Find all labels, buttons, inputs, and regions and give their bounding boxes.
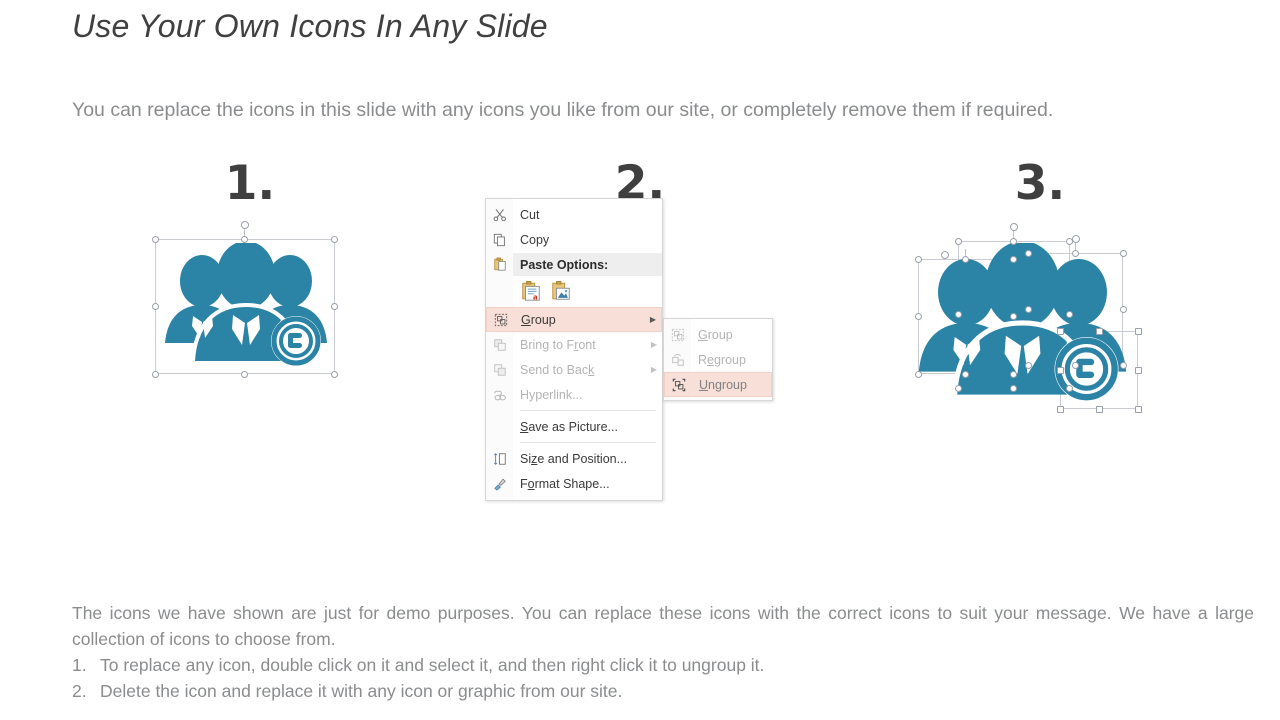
handle-left-s[interactable] [962,371,969,378]
step-2: 2. Cut [480,160,800,207]
submenu-item-group-label: Group [691,328,772,342]
group-icon [664,322,691,347]
menu-item-group-label: Group [514,313,645,327]
handle-right-w[interactable] [1025,306,1032,313]
footer-list-item-text: Delete the icon and replace it with any … [100,678,622,704]
send-to-back-icon [486,357,513,382]
menu-separator [520,442,656,443]
format-shape-icon [486,471,513,496]
handle-right-e[interactable] [1120,306,1127,313]
rotation-handle-center[interactable] [1010,223,1018,231]
submenu-item-ungroup[interactable]: Ungroup [664,372,772,397]
step-1: 1. [140,160,360,381]
handle-nw[interactable] [152,236,159,243]
context-menu[interactable]: Cut Copy [485,198,663,501]
menu-item-hyperlink-label: Hyperlink... [513,388,662,402]
handle-right-ne[interactable] [1120,250,1127,257]
handle-center-se[interactable] [1066,385,1073,392]
menu-item-save-as-picture[interactable]: Save as Picture... [486,414,662,439]
menu-item-group[interactable]: Group ▶ [486,307,662,332]
handle-badge-sw[interactable] [1057,406,1064,413]
footer-list-item: 2. Delete the icon and replace it with a… [72,678,1254,704]
rotation-handle-right[interactable] [1072,235,1080,243]
menu-item-copy[interactable]: Copy [486,227,662,252]
rotation-handle[interactable] [241,221,249,229]
ungrouped-icon-stage [900,221,1180,431]
footer-list-item-number: 1. [72,652,100,678]
copy-pages-icon [486,227,513,252]
grouped-icon-stage [140,221,360,381]
handle-badge-s[interactable] [1096,406,1103,413]
page-title: Use Your Own Icons In Any Slide [72,8,548,45]
submenu-item-regroup-label: Regroup [691,353,772,367]
group-icon [487,307,514,332]
handle-left-sw[interactable] [915,371,922,378]
submenu-item-group[interactable]: Group [664,322,772,347]
handle-right-sw[interactable] [1025,362,1032,369]
no-icon [486,414,513,439]
regroup-icon [664,347,691,372]
handle-center-e[interactable] [1066,311,1073,318]
menu-item-cut-label: Cut [513,208,662,222]
handle-center-w[interactable] [955,311,962,318]
menu-item-hyperlink[interactable]: Hyperlink... [486,382,662,407]
menu-item-send-to-back-label: Send to Back [513,363,646,377]
handle-left-w[interactable] [915,313,922,320]
chevron-right-icon: ▶ [645,315,661,324]
steps-container: 1. [0,160,1280,520]
menu-item-format-shape[interactable]: Format Shape... [486,471,662,496]
menu-item-bring-to-front[interactable]: Bring to Front ▶ [486,332,662,357]
menu-item-format-shape-label: Format Shape... [513,477,662,491]
handle-badge-w[interactable] [1057,367,1064,374]
ungroup-icon [665,372,692,397]
footer-list: 1. To replace any icon, double click on … [72,652,1254,704]
menu-item-paste-options-label: Paste Options: [513,253,662,276]
handle-e[interactable] [331,303,338,310]
handle-center-ne[interactable] [1066,238,1073,245]
handle-badge-e[interactable] [1135,367,1142,374]
handle-left-e[interactable] [1010,313,1017,320]
paste-picture-icon[interactable] [550,280,572,305]
handle-ne[interactable] [331,236,338,243]
handle-badge-ne[interactable] [1135,328,1142,335]
people-group-icon-ungrouped[interactable] [915,243,1130,408]
handle-s[interactable] [241,371,248,378]
hyperlink-icon [486,382,513,407]
submenu-item-ungroup-label: Ungroup [692,378,771,392]
step-3: 3. [900,160,1180,431]
handle-right-s[interactable] [1072,362,1079,369]
handle-left-se[interactable] [1010,371,1017,378]
svg-text:a: a [533,292,538,301]
handle-left-n[interactable] [962,256,969,263]
menu-item-send-to-back[interactable]: Send to Back ▶ [486,357,662,382]
menu-item-size-and-position[interactable]: Size and Position... [486,446,662,471]
chevron-right-icon: ▶ [646,365,662,374]
footer-list-item: 1. To replace any icon, double click on … [72,652,1254,678]
handle-left-nw[interactable] [915,256,922,263]
footer-list-item-number: 2. [72,678,100,704]
handle-center-sw[interactable] [955,385,962,392]
group-submenu[interactable]: Group Regroup [663,318,773,401]
scissors-icon [486,202,513,227]
chevron-right-icon: ▶ [646,340,662,349]
clipboard-icon [486,252,513,277]
menu-item-size-and-position-label: Size and Position... [513,452,662,466]
footer-paragraph: The icons we have shown are just for dem… [72,600,1254,652]
menu-item-paste-options: Paste Options: [486,252,662,277]
handle-n[interactable] [241,236,248,243]
step-1-number: 1. [140,160,360,207]
step-3-number: 3. [900,160,1180,207]
size-position-icon [486,446,513,471]
intro-paragraph: You can replace the icons in this slide … [72,95,1184,125]
menu-item-save-as-picture-label: Save as Picture... [513,420,662,434]
handle-w[interactable] [152,303,159,310]
bring-to-front-icon [486,332,513,357]
handle-center-n[interactable] [1010,238,1017,245]
handle-badge-nw[interactable] [1057,328,1064,335]
footer-list-item-text: To replace any icon, double click on it … [100,652,764,678]
handle-se[interactable] [331,371,338,378]
submenu-item-regroup[interactable]: Regroup [664,347,772,372]
handle-center-nw[interactable] [955,238,962,245]
menu-separator [520,410,656,411]
menu-item-copy-label: Copy [513,233,662,247]
handle-sw[interactable] [152,371,159,378]
menu-item-bring-to-front-label: Bring to Front [513,338,646,352]
handle-badge-n[interactable] [1096,328,1103,335]
menu-item-cut[interactable]: Cut [486,202,662,227]
handle-center-s[interactable] [1010,385,1017,392]
handle-left-ne[interactable] [1010,256,1017,263]
handle-right-se[interactable] [1120,362,1127,369]
handle-right-n[interactable] [1072,250,1079,257]
handle-right-nw[interactable] [1025,250,1032,257]
people-group-icon[interactable] [162,243,330,371]
paste-keep-text-icon[interactable]: a [520,280,542,305]
handle-badge-se[interactable] [1135,406,1142,413]
